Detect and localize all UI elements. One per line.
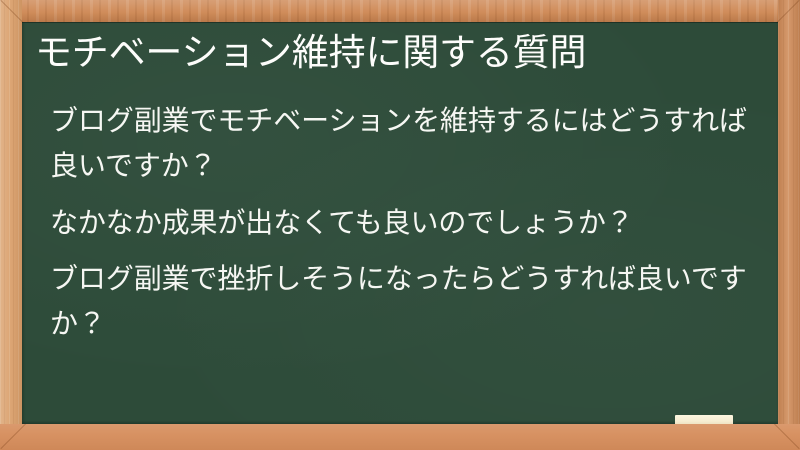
- list-item: ブログ副業でモチベーションを維持するにはどうすれば良いですか？: [50, 98, 756, 189]
- frame-rail-bottom: [0, 424, 800, 450]
- chalk-stick-icon: [675, 415, 733, 424]
- list-item: ブログ副業で挫折しそうになったらどうすれば良いですか？: [50, 256, 756, 347]
- frame-rail-left: [0, 0, 22, 450]
- chalkboard-surface: モチベーション維持に関する質問 ブログ副業でモチベーションを維持するにはどうすれ…: [22, 22, 778, 424]
- blackboard-slide: モチベーション維持に関する質問 ブログ副業でモチベーションを維持するにはどうすれ…: [0, 0, 800, 450]
- frame-rail-right: [778, 0, 800, 450]
- list-item: なかなか成果が出なくても良いのでしょうか？: [50, 200, 756, 245]
- slide-title: モチベーション維持に関する質問: [35, 30, 765, 75]
- frame-rail-top: [0, 0, 800, 22]
- question-list: ブログ副業でモチベーションを維持するにはどうすれば良いですか？ なかなか成果が出…: [50, 98, 756, 347]
